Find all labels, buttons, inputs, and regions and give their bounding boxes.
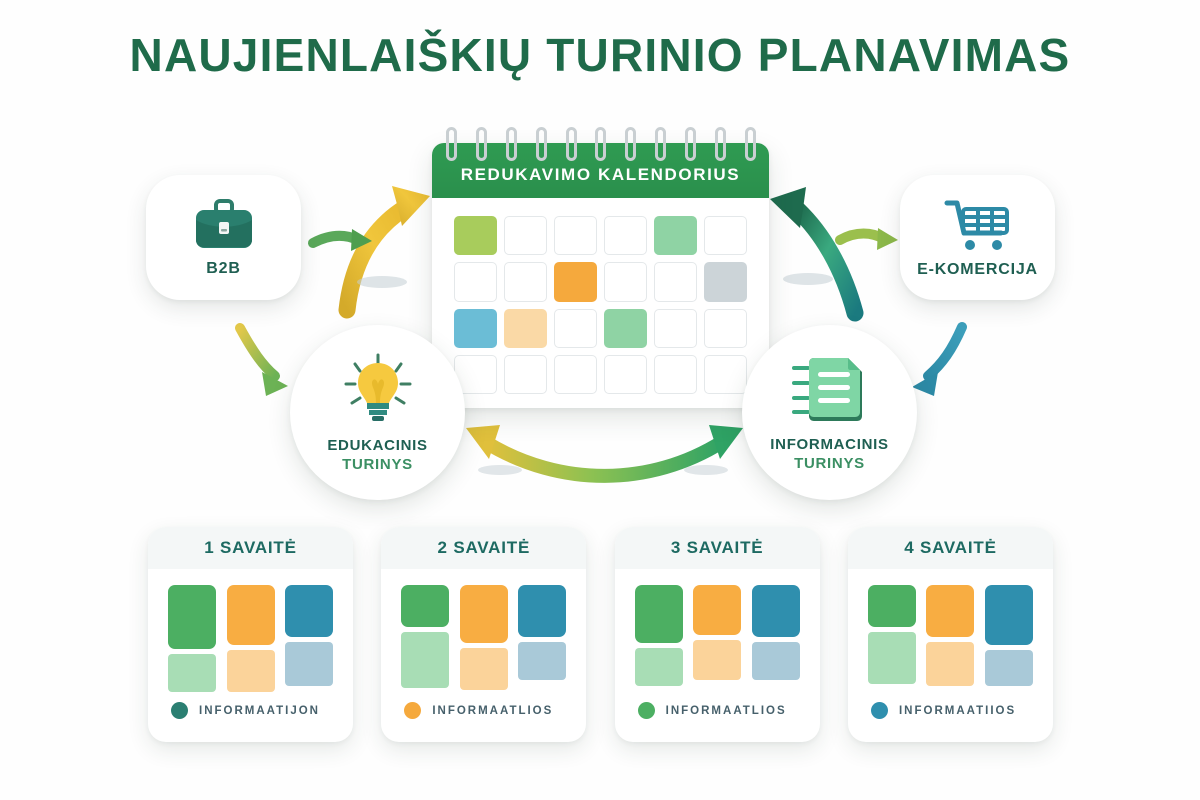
node-edukacinis-label-line1: EDUKACINIS: [327, 437, 427, 454]
spiral-ring: [476, 127, 487, 161]
week-bar-column: [752, 585, 800, 680]
spiral-ring: [655, 127, 666, 161]
week-bar-bottom-segment: [693, 640, 741, 680]
arrow-informacinis-to-calendar: [770, 187, 855, 313]
calendar-cell-filled[interactable]: [454, 216, 497, 255]
node-informacinis-turinys[interactable]: INFORMACINIS TURINYS: [742, 325, 917, 500]
week-card-header: 2 SAVAITĖ: [381, 527, 586, 569]
infographic-canvas: NAUJIENLAIŠKIŲ TURINIO PLANAVIMAS: [0, 0, 1200, 800]
node-ekomercija[interactable]: E-KOMERCIJA: [900, 175, 1055, 300]
week-bar-bottom-segment: [752, 642, 800, 680]
week-legend: INFORMAATIJON: [168, 702, 333, 719]
node-b2b[interactable]: B2B: [146, 175, 301, 300]
week-bar-top-segment: [985, 585, 1033, 645]
week-bar-top-segment: [635, 585, 683, 643]
week-card-body: INFORMAATLIOS: [615, 569, 820, 731]
arrow-b2b-to-edukacinis: [240, 328, 288, 396]
week-bar-top-segment: [227, 585, 275, 645]
spiral-ring: [685, 127, 696, 161]
calendar-cell-filled[interactable]: [504, 309, 547, 348]
calendar-cell-filled[interactable]: [554, 262, 597, 301]
spiral-ring: [715, 127, 726, 161]
week-legend: INFORMAATLIOS: [401, 702, 566, 719]
calendar-cell-filled[interactable]: [704, 262, 747, 301]
week-legend-label: INFORMAATLIOS: [432, 705, 553, 717]
calendar-cell-empty[interactable]: [704, 216, 747, 255]
calendar-cell-empty[interactable]: [554, 355, 597, 394]
week-legend: INFORMAATLIOS: [635, 702, 800, 719]
week-bar-group: [868, 585, 1033, 693]
week-card[interactable]: 3 SAVAITĖINFORMAATLIOS: [615, 527, 820, 742]
week-bar-bottom-segment: [518, 642, 566, 680]
node-ekomercija-label: E-KOMERCIJA: [917, 261, 1038, 279]
week-bar-top-segment: [693, 585, 741, 635]
week-legend-dot: [871, 702, 888, 719]
calendar-cell-filled[interactable]: [454, 309, 497, 348]
calendar-cell-empty[interactable]: [504, 355, 547, 394]
week-card-header: 4 SAVAITĖ: [848, 527, 1053, 569]
calendar-body: [432, 198, 769, 408]
calendar-cell-empty[interactable]: [604, 355, 647, 394]
week-cards-row: 1 SAVAITĖINFORMAATIJON2 SAVAITĖINFORMAAT…: [148, 527, 1053, 742]
calendar-cell-empty[interactable]: [604, 216, 647, 255]
calendar-cell-empty[interactable]: [604, 262, 647, 301]
week-bar-bottom-segment: [227, 650, 275, 692]
spiral-ring: [446, 127, 457, 161]
spiral-ring: [625, 127, 636, 161]
calendar-cell-empty[interactable]: [654, 309, 697, 348]
week-card-header: 1 SAVAITĖ: [148, 527, 353, 569]
week-bar-bottom-segment: [460, 648, 508, 690]
week-bar-column: [460, 585, 508, 690]
week-bar-bottom-segment: [401, 632, 449, 688]
week-card-header: 3 SAVAITĖ: [615, 527, 820, 569]
arrow-b2b-to-calendar: [347, 186, 430, 310]
week-legend-label: INFORMAATIJON: [199, 705, 320, 717]
week-bar-bottom-segment: [635, 648, 683, 686]
week-bar-bottom-segment: [868, 632, 916, 684]
week-bar-column: [926, 585, 974, 686]
node-edukacinis-turinys[interactable]: EDUKACINIS TURINYS: [290, 325, 465, 500]
week-card-body: INFORMAATIIOS: [848, 569, 1053, 731]
week-bar-column: [285, 585, 333, 686]
week-bar-column: [401, 585, 449, 688]
week-legend-dot: [171, 702, 188, 719]
week-bar-group: [168, 585, 333, 693]
arrow-accent-green-top-left: [313, 229, 372, 251]
week-legend-label: INFORMAATIIOS: [899, 705, 1016, 717]
week-bar-bottom-segment: [285, 642, 333, 686]
week-bar-bottom-segment: [168, 654, 216, 692]
week-bar-column: [635, 585, 683, 686]
week-bar-group: [635, 585, 800, 693]
week-bar-top-segment: [460, 585, 508, 643]
week-bar-column: [868, 585, 916, 684]
calendar-cell-empty[interactable]: [454, 262, 497, 301]
week-bar-top-segment: [518, 585, 566, 637]
calendar-cell-empty[interactable]: [554, 216, 597, 255]
week-bar-column: [518, 585, 566, 680]
node-informacinis-label-line2: TURINYS: [794, 455, 865, 472]
week-card-body: INFORMAATIJON: [148, 569, 353, 731]
arrow-ekomercija-to-informacinis: [912, 327, 962, 396]
week-bar-top-segment: [868, 585, 916, 627]
week-bar-column: [227, 585, 275, 692]
node-b2b-label: B2B: [206, 260, 240, 278]
week-bar-top-segment: [168, 585, 216, 649]
calendar-cell-empty[interactable]: [654, 262, 697, 301]
week-bar-bottom-segment: [926, 642, 974, 686]
page-title: NAUJIENLAIŠKIŲ TURINIO PLANAVIMAS: [0, 28, 1200, 82]
calendar-header: REDUKAVIMO KALENDORIUS: [432, 143, 769, 198]
week-card-body: INFORMAATLIOS: [381, 569, 586, 731]
node-informacinis-label-line1: INFORMACINIS: [770, 436, 888, 453]
calendar-cell-empty[interactable]: [504, 216, 547, 255]
week-legend-dot: [404, 702, 421, 719]
calendar-cell-empty[interactable]: [704, 309, 747, 348]
week-bar-column: [168, 585, 216, 692]
spiral-ring: [536, 127, 547, 161]
week-legend: INFORMAATIIOS: [868, 702, 1033, 719]
calendar-cell-empty[interactable]: [554, 309, 597, 348]
spiral-ring: [506, 127, 517, 161]
arrow-edukacinis-informacinis-double: [466, 425, 743, 476]
week-bar-top-segment: [285, 585, 333, 637]
shopping-cart-icon: [943, 197, 1013, 253]
week-bar-top-segment: [401, 585, 449, 627]
calendar-cell-empty[interactable]: [504, 262, 547, 301]
week-bar-column: [693, 585, 741, 680]
week-legend-dot: [638, 702, 655, 719]
week-bar-top-segment: [926, 585, 974, 637]
content-calendar[interactable]: REDUKAVIMO KALENDORIUS: [432, 143, 769, 408]
spiral-ring: [745, 127, 756, 161]
week-card[interactable]: 2 SAVAITĖINFORMAATLIOS: [381, 527, 586, 742]
week-card[interactable]: 1 SAVAITĖINFORMAATIJON: [148, 527, 353, 742]
calendar-grid: [454, 216, 747, 394]
briefcase-icon: [191, 198, 257, 252]
week-card[interactable]: 4 SAVAITĖINFORMAATIIOS: [848, 527, 1053, 742]
calendar-cell-empty[interactable]: [704, 355, 747, 394]
lightbulb-icon: [339, 353, 417, 427]
calendar-cell-filled[interactable]: [604, 309, 647, 348]
calendar-spiral-rings: [446, 127, 756, 163]
calendar-title: REDUKAVIMO KALENDORIUS: [461, 165, 741, 185]
calendar-cell-empty[interactable]: [654, 355, 697, 394]
week-bar-top-segment: [752, 585, 800, 637]
week-bar-column: [985, 585, 1033, 686]
week-bar-bottom-segment: [985, 650, 1033, 686]
node-edukacinis-label-line2: TURINYS: [342, 456, 413, 473]
week-bar-group: [401, 585, 566, 693]
arrow-accent-yellowgreen-top-right: [840, 228, 898, 250]
spiral-ring: [566, 127, 577, 161]
week-legend-label: INFORMAATLIOS: [666, 705, 787, 717]
spiral-ring: [595, 127, 606, 161]
calendar-cell-filled[interactable]: [654, 216, 697, 255]
document-icon: [792, 354, 868, 426]
